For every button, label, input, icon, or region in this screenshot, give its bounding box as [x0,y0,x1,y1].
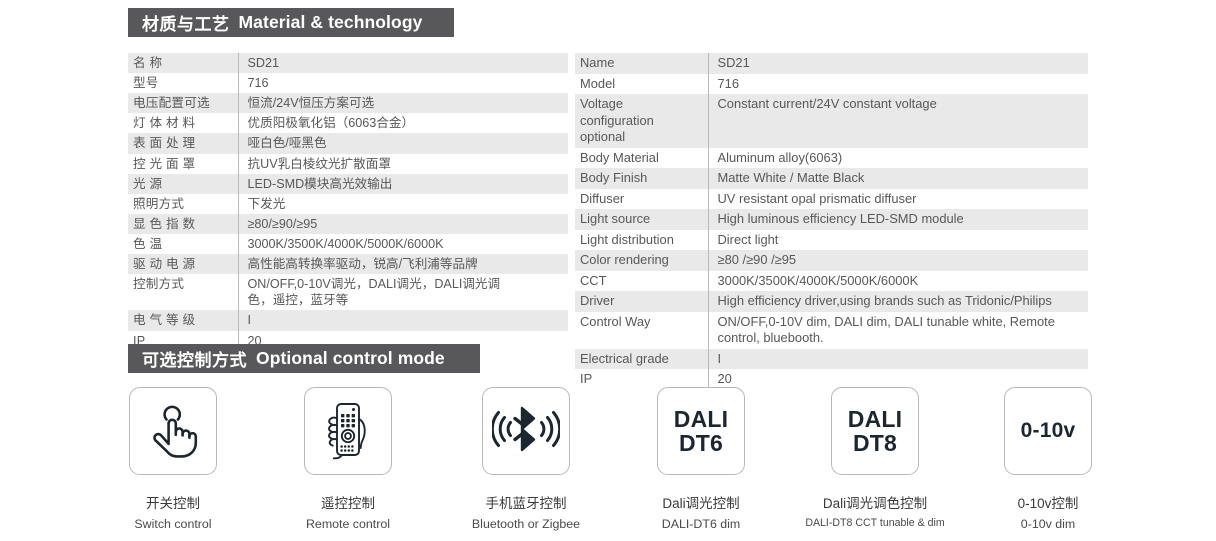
dali-dt8-icon: DALI DT8 [848,407,902,455]
spec-key: Body Finish [575,168,708,189]
spec-key: CCT [575,271,708,292]
spec-value: 3000K/3500K/4000K/5000K/6000K [708,271,1088,292]
spec-value: Matte White / Matte Black [708,168,1088,189]
remote-hand-icon [319,401,377,461]
control-mode-bluetooth-en: Bluetooth or Zigbee [446,517,606,531]
table-row: Light source High luminous efficiency LE… [575,209,1088,230]
spec-key: Light distribution [575,230,708,251]
spec-value: SD21 [708,53,1088,74]
spec-value: 恒流/24V恒压方案可选 [238,93,568,113]
control-mode-dali-dt8[interactable]: DALI DT8 Dali调光调色控制 DALI-DT8 CCT tunable… [795,387,955,529]
table-row: 灯 体 材 料 优质阳极氧化铝（6063合金） [128,113,568,133]
control-mode-remote-en: Remote control [268,517,428,531]
control-mode-remote-card[interactable] [304,387,392,475]
spec-value: I [708,349,1088,370]
spec-value: Constant current/24V constant voltage [708,94,1088,148]
spec-value: High luminous efficiency LED-SMD module [708,209,1088,230]
control-mode-remote-cn: 遥控控制 [268,492,428,512]
spec-key: Diffuser [575,189,708,210]
dali-dt6-icon: DALI DT6 [674,407,728,455]
spec-key: 驱 动 电 源 [128,254,238,274]
dali-dt6-line2: DT6 [674,431,728,455]
table-row: Body Finish Matte White / Matte Black [575,168,1088,189]
spec-table-chinese: 名 称 SD21 型号 716 电压配置可选 恒流/24V恒压方案可选 灯 体 … [128,53,568,351]
spec-key: Model [575,74,708,95]
control-mode-switch[interactable]: 开关控制 Switch control [93,387,253,531]
spec-key: Electrical grade [575,349,708,370]
table-row: 照明方式 下发光 [128,194,568,214]
control-mode-switch-cn: 开关控制 [93,492,253,512]
dali-dt8-line2: DT8 [848,431,902,455]
table-row: 驱 动 电 源 高性能高转换率驱动，锐高/飞利浦等品牌 [128,254,568,274]
table-row: Control Way ON/OFF,0-10V dim, DALI dim, … [575,312,1088,349]
table-row: Body Material Aluminum alloy(6063) [575,148,1088,169]
spec-value: SD21 [238,53,568,73]
table-row: 光 源 LED-SMD模块高光效输出 [128,174,568,194]
spec-key: 色 温 [128,234,238,254]
control-mode-list: 开关控制 Switch control [128,387,1108,527]
section-header-material-cn: 材质与工艺 [142,10,230,35]
spec-value: 抗UV乳白棱纹光扩散面罩 [238,154,568,174]
control-mode-0-10v-card[interactable]: 0-10v [1004,387,1092,475]
dali-dt8-line1: DALI [848,407,902,431]
control-mode-bluetooth-card[interactable] [482,387,570,475]
spec-value: 优质阳极氧化铝（6063合金） [238,113,568,133]
control-mode-dali-dt8-card[interactable]: DALI DT8 [831,387,919,475]
table-row: 电 气 等 级 I [128,310,568,330]
spec-key: 电压配置可选 [128,93,238,113]
spec-value: High efficiency driver,using brands such… [708,291,1088,312]
spec-value: 716 [238,73,568,93]
table-row: Driver High efficiency driver,using bran… [575,291,1088,312]
spec-value: Direct light [708,230,1088,251]
spec-value: LED-SMD模块高光效输出 [238,174,568,194]
spec-key: 显 色 指 数 [128,214,238,234]
spec-key: 照明方式 [128,194,238,214]
bluetooth-icon [492,404,560,458]
spec-value: 高性能高转换率驱动，锐高/飞利浦等品牌 [238,254,568,274]
dali-dt6-line1: DALI [674,407,728,431]
table-row: 控制方式 ON/OFF,0-10V调光，DALI调光，DALI调光调色，遥控，蓝… [128,274,568,310]
table-row: Light distribution Direct light [575,230,1088,251]
spec-key: Voltage configuration optional [575,94,708,148]
section-header-control-mode: 可选控制方式 Optional control mode [128,344,480,373]
spec-key: 表 面 处 理 [128,133,238,153]
spec-value: 哑白色/哑黑色 [238,133,568,153]
spec-key: 型号 [128,73,238,93]
table-row: Model 716 [575,74,1088,95]
control-mode-dali-dt6-en: DALI-DT6 dim [621,517,781,531]
spec-sheet-page: 材质与工艺 Material & technology 名 称 SD21 型号 … [0,0,1216,541]
section-header-control-cn: 可选控制方式 [142,346,247,371]
control-mode-0-10v-cn: 0-10v控制 [968,492,1128,512]
table-row: 显 色 指 数 ≥80/≥90/≥95 [128,214,568,234]
control-mode-dali-dt6-card[interactable]: DALI DT6 [657,387,745,475]
spec-value: 下发光 [238,194,568,214]
table-row: Voltage configuration optional Constant … [575,94,1088,148]
control-mode-switch-en: Switch control [93,517,253,531]
spec-value: 3000K/3500K/4000K/5000K/6000K [238,234,568,254]
spec-key: Color rendering [575,250,708,271]
spec-value: UV resistant opal prismatic diffuser [708,189,1088,210]
spec-key: 名 称 [128,53,238,73]
spec-key: Light source [575,209,708,230]
table-row: 型号 716 [128,73,568,93]
control-mode-dali-dt6-cn: Dali调光控制 [621,492,781,512]
spec-key: Name [575,53,708,74]
spec-key: Body Material [575,148,708,169]
touch-hand-icon [147,403,199,459]
spec-key: 控制方式 [128,274,238,310]
control-mode-dali-dt8-en: DALI-DT8 CCT tunable & dim [795,517,955,529]
spec-value: I [238,310,568,330]
spec-value: ≥80/≥90/≥95 [238,214,568,234]
spec-value: ON/OFF,0-10V dim, DALI dim, DALI tunable… [708,312,1088,349]
control-mode-remote[interactable]: 遥控控制 Remote control [268,387,428,531]
table-row: 控 光 面 罩 抗UV乳白棱纹光扩散面罩 [128,154,568,174]
control-mode-0-10v-en: 0-10v dim [968,517,1128,531]
table-row: 色 温 3000K/3500K/4000K/5000K/6000K [128,234,568,254]
zero-to-ten-v-icon: 0-10v [1021,420,1076,442]
table-row: 电压配置可选 恒流/24V恒压方案可选 [128,93,568,113]
table-row: Electrical grade I [575,349,1088,370]
table-row: Name SD21 [575,53,1088,74]
spec-key: Control Way [575,312,708,349]
table-row: CCT 3000K/3500K/4000K/5000K/6000K [575,271,1088,292]
spec-key: 控 光 面 罩 [128,154,238,174]
control-mode-bluetooth[interactable]: 手机蓝牙控制 Bluetooth or Zigbee [446,387,606,531]
table-row: Color rendering ≥80 /≥90 /≥95 [575,250,1088,271]
section-header-material: 材质与工艺 Material & technology [128,8,454,37]
spec-value: Aluminum alloy(6063) [708,148,1088,169]
section-header-control-en: Optional control mode [256,348,445,369]
section-header-material-en: Material & technology [239,12,423,33]
spec-key: 灯 体 材 料 [128,113,238,133]
spec-key: Driver [575,291,708,312]
table-row: 表 面 处 理 哑白色/哑黑色 [128,133,568,153]
control-mode-switch-card[interactable] [129,387,217,475]
spec-value: ≥80 /≥90 /≥95 [708,250,1088,271]
spec-key: 电 气 等 级 [128,310,238,330]
spec-key: 光 源 [128,174,238,194]
table-row: Diffuser UV resistant opal prismatic dif… [575,189,1088,210]
table-row: 名 称 SD21 [128,53,568,73]
spec-value: 716 [708,74,1088,95]
control-mode-dali-dt6[interactable]: DALI DT6 Dali调光控制 DALI-DT6 dim [621,387,781,531]
control-mode-bluetooth-cn: 手机蓝牙控制 [446,492,606,512]
control-mode-dali-dt8-cn: Dali调光调色控制 [795,492,955,512]
spec-value: ON/OFF,0-10V调光，DALI调光，DALI调光调色，遥控，蓝牙等 [238,274,568,310]
control-mode-0-10v[interactable]: 0-10v 0-10v控制 0-10v dim [968,387,1128,531]
spec-table-english: Name SD21 Model 716 Voltage configuratio… [575,53,1088,390]
